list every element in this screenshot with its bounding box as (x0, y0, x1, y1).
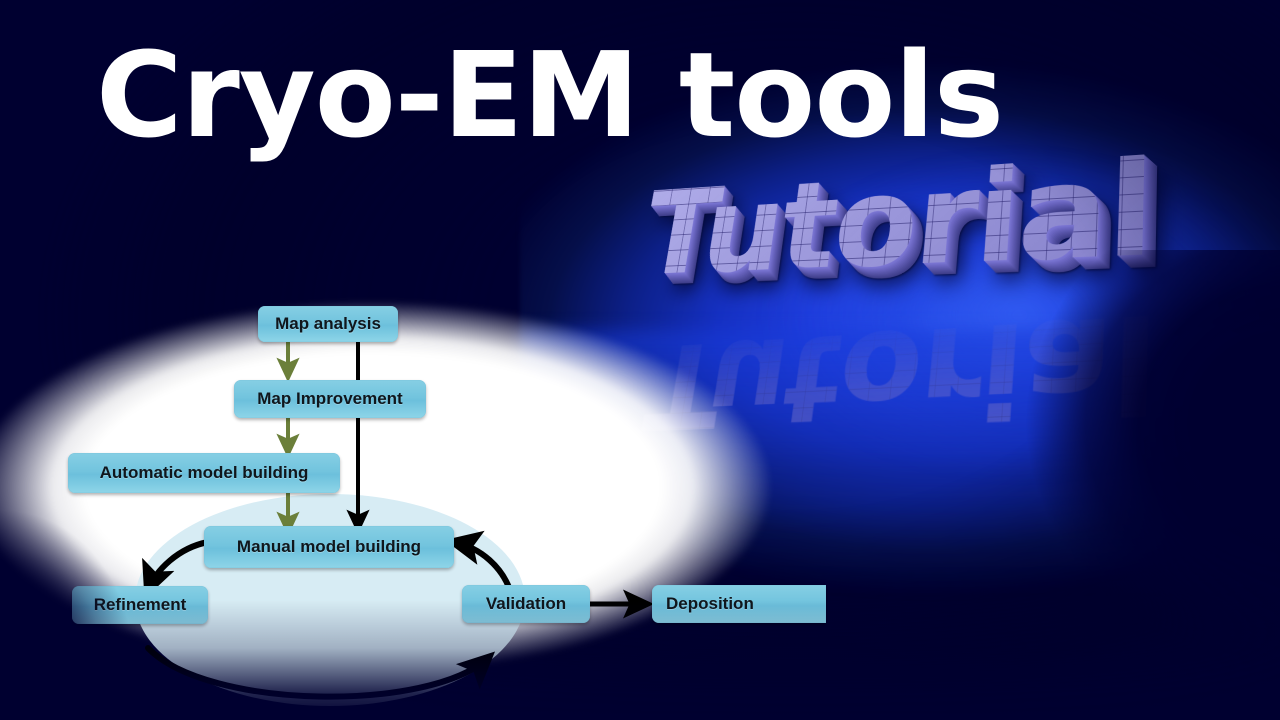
node-deposition[interactable]: Deposition (652, 585, 826, 623)
workflow-diagram: Map analysis Map Improvement Automatic m… (0, 280, 860, 720)
workflow-diagram-group: Map analysis Map Improvement Automatic m… (0, 280, 860, 720)
node-automatic-model-building[interactable]: Automatic model building (68, 453, 340, 493)
node-refinement[interactable]: Refinement (72, 586, 208, 624)
flow-arrows (0, 280, 860, 720)
node-map-improvement[interactable]: Map Improvement (234, 380, 426, 418)
node-map-analysis[interactable]: Map analysis (258, 306, 398, 342)
slide-title: Cryo-EM tools (96, 28, 1003, 164)
slide-canvas: Tutorial Tutorial Tutorial Tutorial Cryo… (0, 0, 1280, 720)
node-validation[interactable]: Validation (462, 585, 590, 623)
node-manual-model-building[interactable]: Manual model building (204, 526, 454, 568)
